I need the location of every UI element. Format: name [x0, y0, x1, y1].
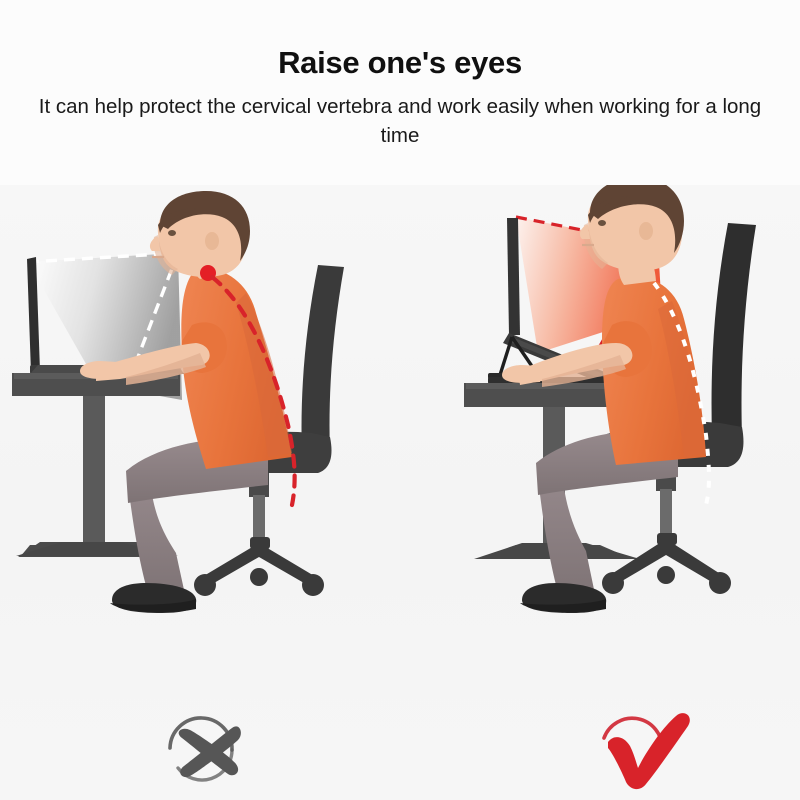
chair-caster — [250, 568, 268, 586]
chair-caster — [194, 574, 216, 596]
page-subtitle: It can help protect the cervical vertebr… — [30, 80, 770, 150]
page-title: Raise one's eyes — [0, 0, 800, 80]
chair-caster — [657, 566, 675, 584]
chair-caster — [302, 574, 324, 596]
hand — [502, 365, 540, 383]
chair-caster — [709, 572, 731, 594]
check-icon — [578, 700, 698, 796]
infographic-page: Raise one's eyes It can help protect the… — [0, 0, 800, 800]
chair-caster — [602, 572, 624, 594]
header: Raise one's eyes It can help protect the… — [0, 0, 800, 185]
cross-icon — [148, 700, 268, 796]
